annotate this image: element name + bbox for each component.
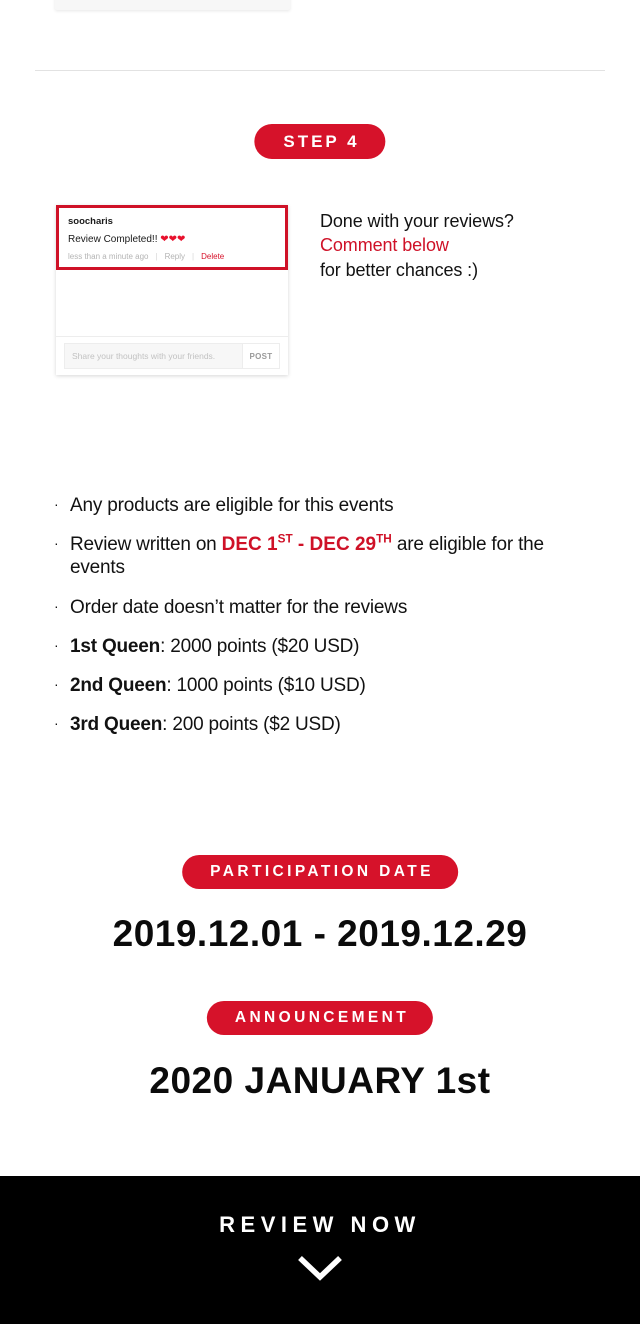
comment-input-bar: Share your thoughts with your friends. P… xyxy=(56,337,288,375)
comment-timestamp: less than a minute ago xyxy=(68,252,149,262)
meta-separator-2: | xyxy=(192,252,194,262)
list-item-text: 3rd Queen: 200 points ($2 USD) xyxy=(70,713,594,736)
comment-input-field[interactable]: Share your thoughts with your friends. xyxy=(64,343,242,369)
heart-icon: ❤❤❤ xyxy=(160,234,185,245)
participation-date-badge: PARTICIPATION DATE xyxy=(182,855,458,889)
list-item-text: 2nd Queen: 1000 points ($10 USD) xyxy=(70,674,594,697)
bullet-icon: · xyxy=(54,635,70,657)
prize-reward: : 1000 points ($10 USD) xyxy=(166,675,365,696)
date-start-suffix: ST xyxy=(278,533,293,546)
bullet-icon: · xyxy=(54,674,70,696)
bullet-icon: · xyxy=(54,533,70,555)
meta-separator-1: | xyxy=(156,252,158,262)
comment-reply-link[interactable]: Reply xyxy=(165,252,185,262)
prompt-line-3: for better chances :) xyxy=(320,258,514,282)
list-item-text: Order date doesn’t matter for the review… xyxy=(70,596,594,619)
comment-meta: less than a minute ago | Reply | Delete xyxy=(68,252,276,262)
list-item: · Any products are eligible for this eve… xyxy=(54,494,594,517)
bullet-icon: · xyxy=(54,596,70,618)
announcement-badge: ANNOUNCEMENT xyxy=(207,1001,433,1035)
prompt-line-1: Done with your reviews? xyxy=(320,209,514,233)
comment-message-text: Review Completed!! xyxy=(68,234,157,245)
list-item: · 3rd Queen: 200 points ($2 USD) xyxy=(54,713,594,736)
comment-username: soocharis xyxy=(68,216,276,228)
bullet-icon: · xyxy=(54,494,70,516)
review-now-cta[interactable]: REVIEW NOW xyxy=(0,1176,640,1324)
list-item-text: Review written on DEC 1ST - DEC 29TH are… xyxy=(70,533,594,579)
date-dash: - xyxy=(293,534,310,555)
list-item: · 1st Queen: 2000 points ($20 USD) xyxy=(54,635,594,658)
list-item: · Order date doesn’t matter for the revi… xyxy=(54,596,594,619)
step-badge: STEP 4 xyxy=(254,124,385,159)
bullet-icon: · xyxy=(54,713,70,735)
date-end: DEC 29 xyxy=(310,534,377,555)
comment-highlight-box: soocharis Review Completed!! ❤❤❤ less th… xyxy=(56,205,288,270)
comment-post-button[interactable]: POST xyxy=(242,343,280,369)
comment-empty-area xyxy=(56,270,288,337)
list-item: · 2nd Queen: 1000 points ($10 USD) xyxy=(54,674,594,697)
chevron-down-icon[interactable] xyxy=(297,1255,343,1281)
prize-rank: 1st Queen xyxy=(70,636,160,657)
section-divider xyxy=(35,70,605,71)
review-now-label: REVIEW NOW xyxy=(219,1214,421,1236)
prize-reward: : 200 points ($2 USD) xyxy=(162,714,341,735)
participation-date-value: 2019.12.01 - 2019.12.29 xyxy=(0,913,640,955)
comment-message: Review Completed!! ❤❤❤ xyxy=(68,233,276,246)
rule-prefix: Review written on xyxy=(70,534,222,555)
announcement-value: 2020 JANUARY 1st xyxy=(0,1060,640,1102)
list-item-text: Any products are eligible for this event… xyxy=(70,494,594,517)
prompt-text: Done with your reviews? Comment below fo… xyxy=(320,209,514,282)
prompt-line-2-accent: Comment below xyxy=(320,233,514,257)
eligible-date-range: DEC 1ST - DEC 29TH xyxy=(222,534,392,555)
promo-page: STEP 4 soocharis Review Completed!! ❤❤❤ … xyxy=(0,0,640,1324)
rules-list: · Any products are eligible for this eve… xyxy=(54,494,594,752)
list-item-text: 1st Queen: 2000 points ($20 USD) xyxy=(70,635,594,658)
date-start: DEC 1 xyxy=(222,534,278,555)
prize-rank: 3rd Queen xyxy=(70,714,162,735)
list-item: · Review written on DEC 1ST - DEC 29TH a… xyxy=(54,533,594,579)
prize-rank: 2nd Queen xyxy=(70,675,166,696)
comment-card-mock: soocharis Review Completed!! ❤❤❤ less th… xyxy=(56,205,288,375)
previous-step-card-partial xyxy=(55,0,290,10)
prize-reward: : 2000 points ($20 USD) xyxy=(160,636,359,657)
date-end-suffix: TH xyxy=(376,533,392,546)
comment-delete-link[interactable]: Delete xyxy=(201,252,224,262)
